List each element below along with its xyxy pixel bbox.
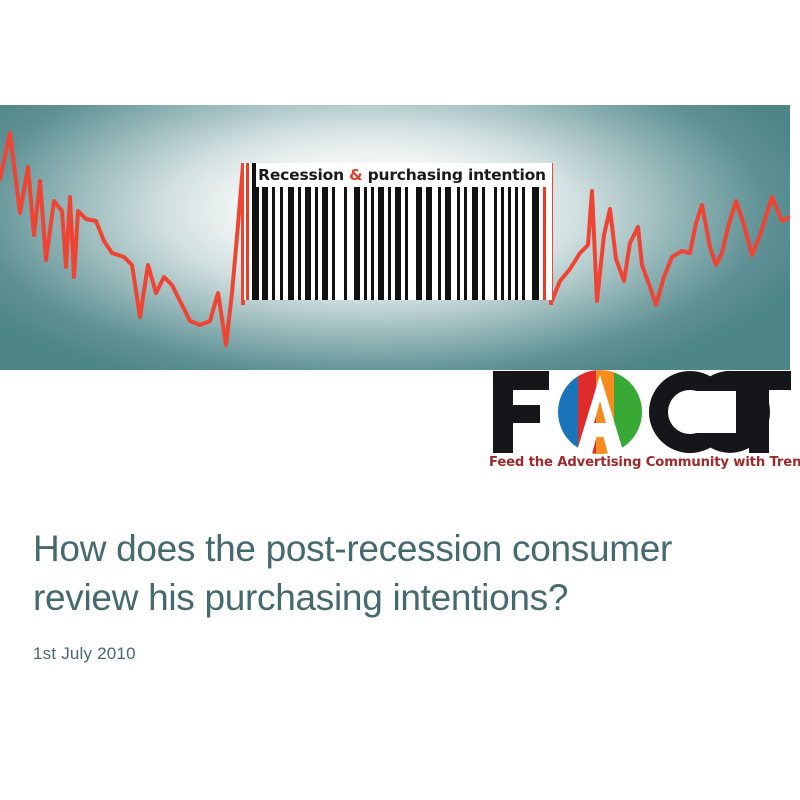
barcode-caption-text: Recession & purchasing intention [256, 163, 548, 187]
fact-tagline: Feed the Advertising Community with Tren… [489, 455, 794, 470]
barcode-caption-prefix: Recession [258, 166, 349, 184]
barcode-graphic: Recession & purchasing intention [244, 163, 552, 300]
barcode-caption-ampersand: & [349, 166, 362, 184]
title-block: How does the post-recession consumer rev… [33, 524, 763, 664]
page-title: How does the post-recession consumer rev… [33, 524, 763, 622]
fact-logo: Feed the Advertising Community with Tren… [489, 367, 794, 479]
logo-letter-f [493, 371, 549, 453]
barcode-caption-suffix: purchasing intention [362, 166, 545, 184]
line-series-right [551, 191, 790, 305]
page-date: 1st July 2010 [33, 644, 763, 664]
line-series-left [0, 133, 243, 345]
barcode-bars [244, 187, 552, 300]
logo-letter-a-mark [558, 370, 644, 454]
fact-wordmark [489, 367, 794, 457]
